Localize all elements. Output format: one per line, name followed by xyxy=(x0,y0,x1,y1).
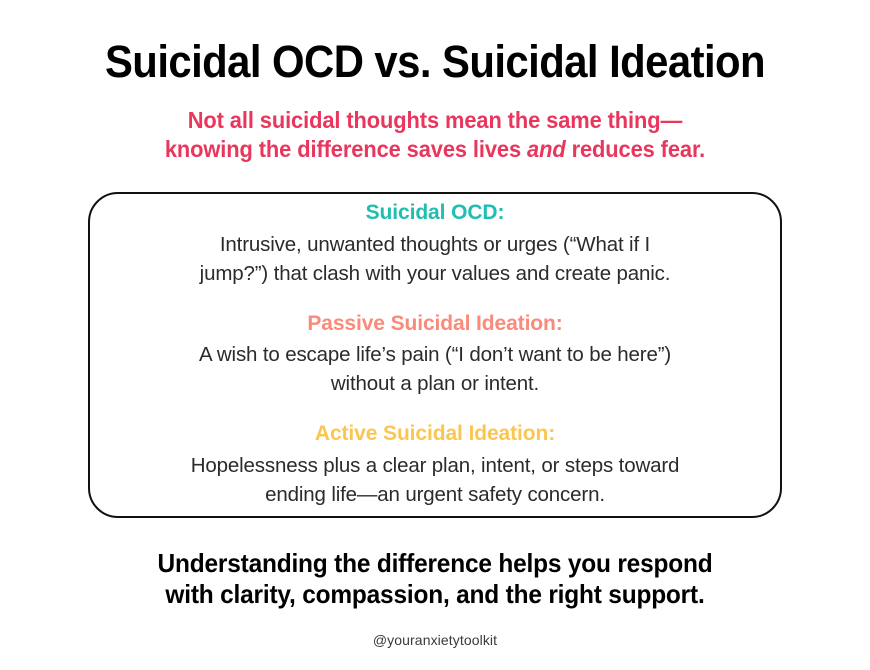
subtitle-line-1: Not all suicidal thoughts mean the same … xyxy=(22,106,849,135)
section-body-suicidal-ocd: Intrusive, unwanted thoughts or urges (“… xyxy=(116,230,754,288)
subtitle-line-2-before: knowing the difference saves lives xyxy=(165,136,527,162)
section-heading-suicidal-ocd: Suicidal OCD: xyxy=(116,199,754,226)
section-heading-passive-suicidal-ideation: Passive Suicidal Ideation: xyxy=(116,310,754,337)
section-body-suicidal-ocd-line-2: jump?”) that clash with your values and … xyxy=(116,259,754,288)
definitions-card: Suicidal OCD: Intrusive, unwanted though… xyxy=(88,192,782,518)
section-heading-active-suicidal-ideation: Active Suicidal Ideation: xyxy=(116,420,754,447)
subtitle: Not all suicidal thoughts mean the same … xyxy=(0,106,870,163)
subtitle-line-2: knowing the difference saves lives and r… xyxy=(22,135,849,164)
page-title: Suicidal OCD vs. Suicidal Ideation xyxy=(30,38,839,87)
section-body-active-suicidal-ideation: Hopelessness plus a clear plan, intent, … xyxy=(116,451,754,509)
closing-statement: Understanding the difference helps you r… xyxy=(0,548,870,610)
section-body-passive-line-1: A wish to escape life’s pain (“I don’t w… xyxy=(116,340,754,369)
closing-line-1: Understanding the difference helps you r… xyxy=(26,548,844,579)
section-passive-suicidal-ideation: Passive Suicidal Ideation: A wish to esc… xyxy=(116,310,754,399)
section-body-active-line-2: ending life—an urgent safety concern. xyxy=(116,480,754,509)
subtitle-line-2-after: reduces fear. xyxy=(566,136,706,162)
section-body-active-line-1: Hopelessness plus a clear plan, intent, … xyxy=(116,451,754,480)
section-active-suicidal-ideation: Active Suicidal Ideation: Hopelessness p… xyxy=(116,420,754,509)
infographic-poster: Suicidal OCD vs. Suicidal Ideation Not a… xyxy=(0,0,870,670)
section-suicidal-ocd: Suicidal OCD: Intrusive, unwanted though… xyxy=(116,199,754,288)
section-body-passive-line-2: without a plan or intent. xyxy=(116,369,754,398)
section-body-passive-suicidal-ideation: A wish to escape life’s pain (“I don’t w… xyxy=(116,340,754,398)
subtitle-emphasis-and: and xyxy=(527,136,566,162)
social-handle: @youranxietytoolkit xyxy=(0,632,870,648)
section-body-suicidal-ocd-line-1: Intrusive, unwanted thoughts or urges (“… xyxy=(116,230,754,259)
closing-line-2: with clarity, compassion, and the right … xyxy=(26,579,844,610)
